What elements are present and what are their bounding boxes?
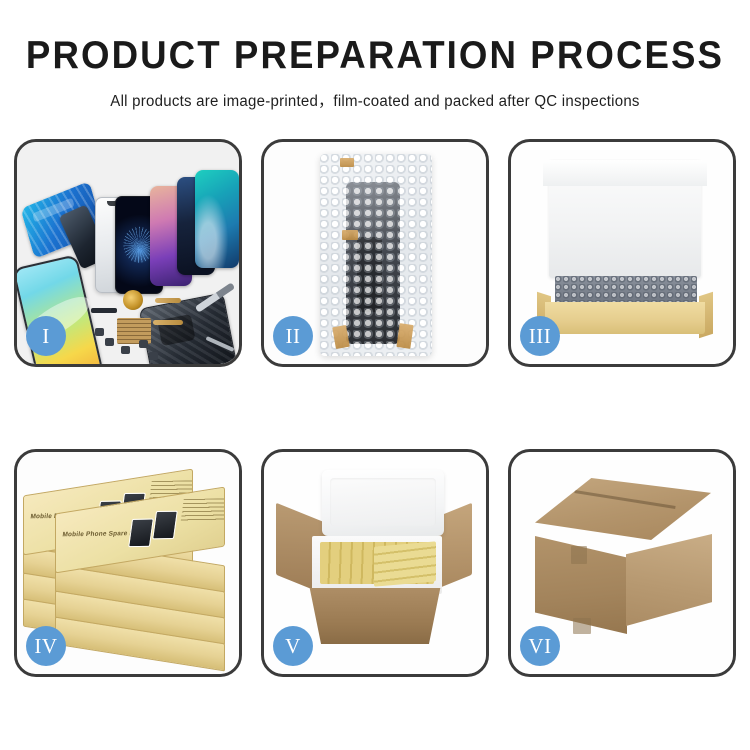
battery-strip-part-icon — [91, 308, 117, 313]
product-preparation-process-page: PRODUCT PREPARATION PROCESS All products… — [0, 0, 750, 750]
box-product-photo-icon-3 — [128, 518, 154, 547]
carton-tape-icon-2 — [573, 618, 591, 634]
step-badge-3: III — [520, 316, 560, 356]
ic-chip-part-icon-4 — [95, 328, 104, 336]
tape-strip-icon-2 — [342, 230, 358, 240]
kraft-box-front-icon — [545, 302, 705, 334]
box-spec-lines-icon-2 — [181, 498, 225, 521]
speaker-coil-part-icon — [123, 290, 143, 310]
ic-chip-part-icon-5 — [149, 352, 158, 360]
yellow-boxes-row-icon-2 — [374, 541, 436, 586]
step-badge-2: II — [273, 316, 313, 356]
white-foam-lid-icon — [549, 160, 701, 278]
teal-gradient-phone-icon — [195, 170, 239, 268]
flex-cable-part-icon-2 — [153, 320, 183, 325]
step-5-illustration: V — [264, 452, 486, 674]
step-badge-4: IV — [26, 626, 66, 666]
foam-box-lid-icon — [322, 470, 444, 536]
step-badge-1: I — [26, 316, 66, 356]
step-2-illustration: II — [264, 142, 486, 364]
ic-chip-part-icon-2 — [121, 346, 130, 354]
carton-body-icon — [304, 588, 446, 644]
step-badge-5: V — [273, 626, 313, 666]
carton-tape-icon-1 — [571, 546, 587, 564]
step-badge-6: VI — [520, 626, 560, 666]
process-step-panel-5: V — [261, 449, 489, 677]
page-title: PRODUCT PREPARATION PROCESS — [23, 36, 728, 77]
process-step-panel-1: I — [14, 139, 242, 367]
bubble-wrap-bag-icon — [320, 154, 432, 356]
step-6-illustration: VI — [511, 452, 733, 674]
tape-strip-icon-1 — [340, 158, 354, 167]
box-product-photo-icon-4 — [152, 511, 178, 540]
step-3-illustration: III — [511, 142, 733, 364]
process-step-panel-3: III — [508, 139, 736, 367]
ic-chip-part-icon — [105, 338, 114, 346]
page-header: PRODUCT PREPARATION PROCESS All products… — [0, 0, 750, 111]
process-step-panel-2: II — [261, 139, 489, 367]
step-4-illustration: Mobile Phone Spare Parts Mobile Phone Sp… — [17, 452, 239, 674]
page-subtitle: All products are image-printed，film-coat… — [11, 89, 739, 111]
process-step-panel-4: Mobile Phone Spare Parts Mobile Phone Sp… — [14, 449, 242, 677]
ic-chip-part-icon-3 — [139, 340, 148, 348]
process-step-panel-6: VI — [508, 449, 736, 677]
step-1-illustration: I — [17, 142, 239, 364]
process-steps-grid: I II — [14, 139, 736, 677]
flex-cable-part-icon — [155, 298, 181, 303]
